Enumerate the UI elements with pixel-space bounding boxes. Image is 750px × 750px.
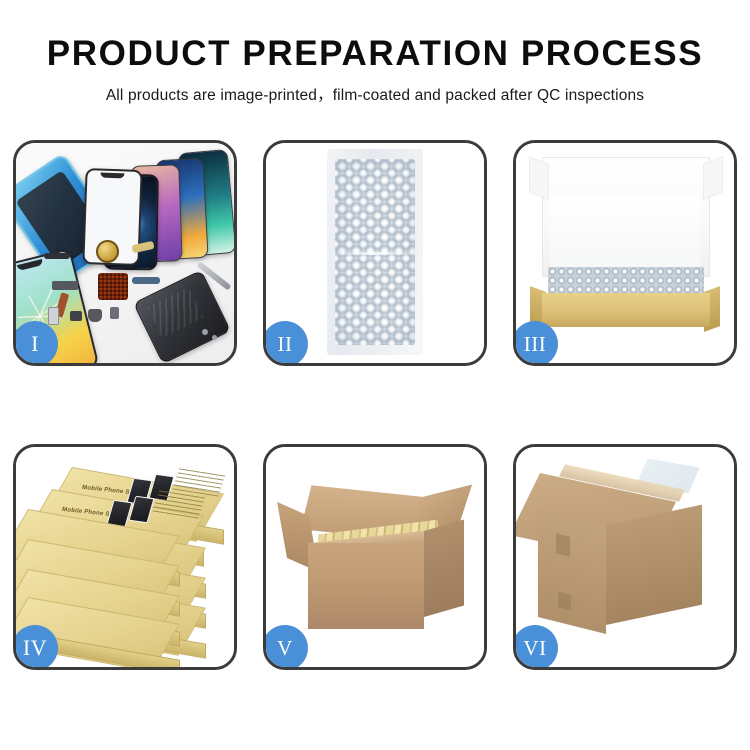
step-badge-2: II xyxy=(263,321,308,366)
carton-front-icon xyxy=(308,543,424,629)
camera-module-icon xyxy=(96,240,119,263)
step-card-1[interactable]: I xyxy=(13,140,237,366)
step-badge-6: VI xyxy=(513,625,558,670)
step-badge-1: I xyxy=(13,321,58,366)
bubble-wrap-icon xyxy=(327,149,423,355)
small-part-icon xyxy=(70,311,82,321)
carton-tab-icon xyxy=(556,533,570,556)
step-panel-border: V xyxy=(263,444,487,670)
step-card-2[interactable]: II xyxy=(263,140,487,366)
small-part-icon xyxy=(110,307,119,319)
step-card-6[interactable]: VI xyxy=(513,444,737,670)
step-badge-3: III xyxy=(513,321,558,366)
carton-left-face-icon xyxy=(538,509,606,634)
screw-icon xyxy=(202,329,208,335)
page-title: PRODUCT PREPARATION PROCESS xyxy=(0,0,750,73)
speaker-part-icon xyxy=(44,253,70,259)
step-panel-border: Mobile Phone Spare Parts Mobile Phone Sp… xyxy=(13,444,237,670)
step-card-4[interactable]: Mobile Phone Spare Parts Mobile Phone Sp… xyxy=(13,444,237,670)
carton-right-face-icon xyxy=(606,505,702,625)
sim-tray-icon xyxy=(48,307,59,325)
flex-cable-icon xyxy=(132,277,160,284)
step-panel-border: II xyxy=(263,140,487,366)
screw-icon xyxy=(212,335,217,340)
step-badge-4: IV xyxy=(13,625,58,670)
step-card-5[interactable]: V xyxy=(263,444,487,670)
box-stack-icon: Mobile Phone Spare Parts Mobile Phone Sp… xyxy=(20,465,234,655)
flex-cable-icon xyxy=(52,281,78,290)
step-panel-border: I xyxy=(13,140,237,366)
step-panel-border: III xyxy=(513,140,737,366)
step-panel-border: VI xyxy=(513,444,737,670)
product-preparation-infographic: PRODUCT PREPARATION PROCESS All products… xyxy=(0,0,750,750)
foam-insert-icon xyxy=(550,195,700,273)
step-badge-5: V xyxy=(263,625,308,670)
copper-mesh-icon xyxy=(98,273,128,300)
page-subtitle: All products are image-printed，film-coat… xyxy=(0,73,750,105)
retail-box xyxy=(28,539,178,565)
retail-box xyxy=(28,569,178,595)
retail-box xyxy=(28,509,178,535)
carton-side-icon xyxy=(424,520,464,617)
kraft-box-front-icon xyxy=(542,293,710,327)
header: PRODUCT PREPARATION PROCESS All products… xyxy=(0,0,750,105)
carton-tab-icon xyxy=(558,591,571,610)
wrap-seam xyxy=(333,252,417,255)
retail-box xyxy=(28,597,178,623)
steps-grid: I II xyxy=(13,140,737,692)
small-part-icon xyxy=(88,309,102,322)
step-card-3[interactable]: III xyxy=(513,140,737,366)
